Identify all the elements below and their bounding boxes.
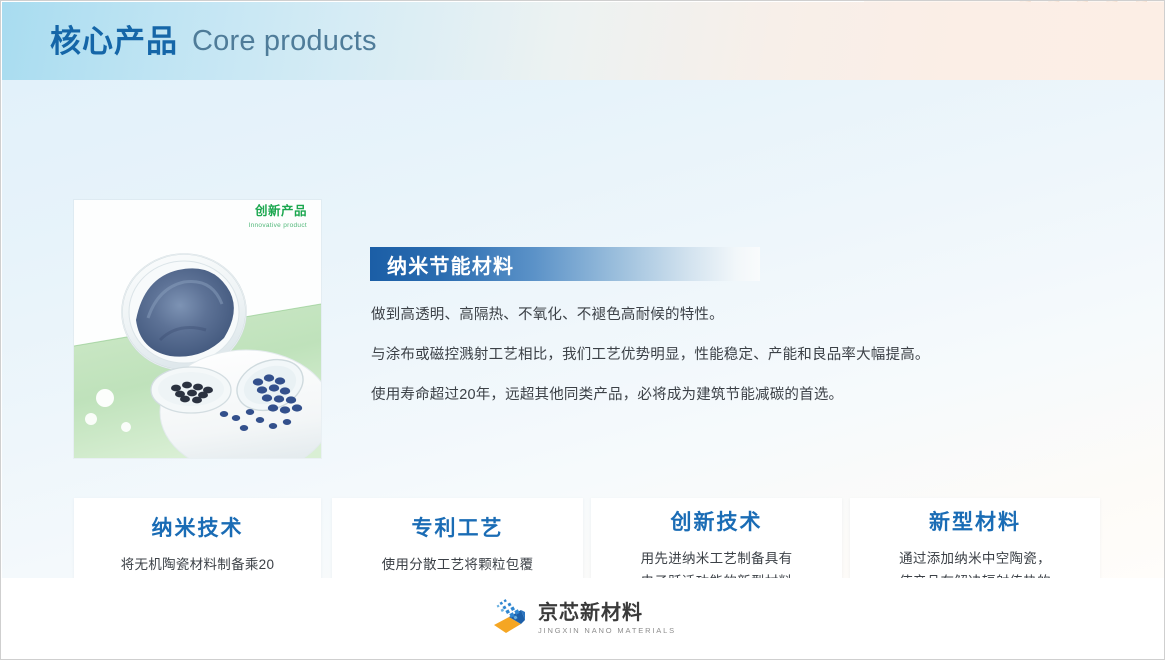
feature-card-line: 使产品在解决辐射传热的 [899,570,1051,578]
product-photo: 创新产品 Innovative product [74,200,321,458]
feature-card-line: 将无机陶瓷材料制备乘20 [121,553,275,576]
content-panel: 创新产品 Innovative product 纳米节能材料 做到高透明、高隔热… [2,80,1165,578]
product-title: 纳米节能材料 [370,250,514,279]
feature-card-title: 专利工艺 [412,518,504,539]
company-name-cn: 京芯新材料 [538,603,676,624]
feature-card-line: 用先进纳米工艺制备具有 [641,547,793,570]
header-title-group: 核心产品 Core products [50,2,377,80]
company-logo: 京芯新材料 JINGXIN NANO MATERIALS [491,599,676,639]
feature-card-body: 使用分散工艺将颗粒包覆 并将其均匀分散在浆料中 [382,553,534,578]
product-paragraph: 使用寿命超过20年，远超其他同类产品，必将成为建筑节能减碳的首选。 [371,388,1031,404]
feature-card-line: 通过添加纳米中空陶瓷， [899,547,1051,570]
product-description: 做到高透明、高隔热、不氧化、不褪色高耐候的特性。 与涂布或磁控溅射工艺相比，我们… [371,308,1031,404]
feature-card-body: 将无机陶瓷材料制备乘20 纳米左右超细功能性颗料 [121,553,275,578]
feature-card-title: 新型材料 [929,512,1021,533]
product-paragraph: 做到高透明、高隔热、不氧化、不褪色高耐候的特性。 [371,308,1031,324]
photo-badge-en: Innovative product [248,222,307,229]
feature-card-list: 纳米技术 将无机陶瓷材料制备乘20 纳米左右超细功能性颗料 专利工艺 使用分散工… [74,498,1100,578]
feature-card-innovative-technology[interactable]: 创新技术 用先进纳米工艺制备具有 电子跃迁功能的新型材料 选择性吸收电磁波 [591,498,842,578]
feature-card-line: 电子跃迁功能的新型材料 [641,570,793,578]
page-title-cn: 核心产品 [50,26,178,57]
feature-card-patented-process[interactable]: 专利工艺 使用分散工艺将颗粒包覆 并将其均匀分散在浆料中 [332,498,583,578]
company-logo-text: 京芯新材料 JINGXIN NANO MATERIALS [538,603,676,635]
feature-card-title: 创新技术 [671,512,763,533]
feature-card-nano-technology[interactable]: 纳米技术 将无机陶瓷材料制备乘20 纳米左右超细功能性颗料 [74,498,321,578]
feature-card-line: 使用分散工艺将颗粒包覆 [382,553,534,576]
jingxin-pixel-diamond-logo-icon [491,599,529,639]
feature-card-body: 通过添加纳米中空陶瓷， 使产品在解决辐射传热的 同时解决部分传导热问题 [899,547,1051,578]
feature-card-new-material[interactable]: 新型材料 通过添加纳米中空陶瓷， 使产品在解决辐射传热的 同时解决部分传导热问题 [850,498,1100,578]
page-footer: 京芯新材料 JINGXIN NANO MATERIALS [2,578,1165,660]
product-title-bar: 纳米节能材料 [370,247,760,281]
product-paragraph: 与涂布或磁控溅射工艺相比，我们工艺优势明显，性能稳定、产能和良品率大幅提高。 [371,348,1031,364]
photo-badge-cn: 创新产品 [255,205,307,219]
feature-card-title: 纳米技术 [152,518,244,539]
page-title-en: Core products [192,27,377,56]
feature-card-body: 用先进纳米工艺制备具有 电子跃迁功能的新型材料 选择性吸收电磁波 [641,547,793,578]
page-header: 核心产品 Core products [2,2,1165,80]
company-name-en: JINGXIN NANO MATERIALS [538,627,676,635]
slide-core-products: 核心产品 Core products [0,0,1165,660]
